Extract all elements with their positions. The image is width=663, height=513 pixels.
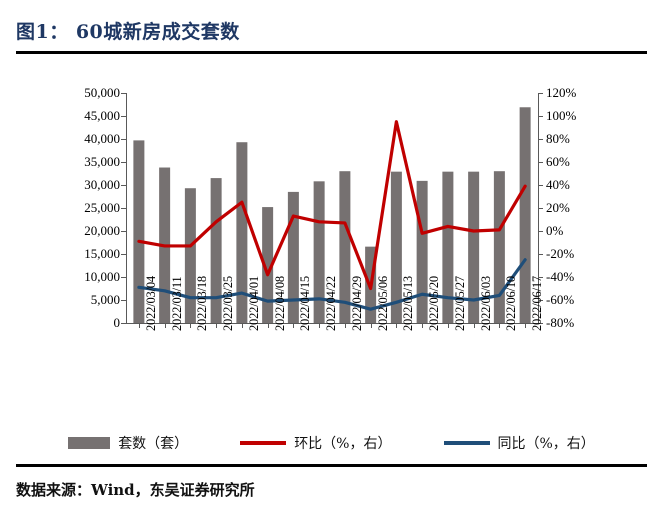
legend-swatch-line-yoy-icon [444,441,490,445]
y-tick-left [121,231,126,232]
y-axis-right-tick-label: 40% [546,177,626,193]
x-axis-tick-label: 2022/05/13 [401,276,416,331]
y-axis-right-tick-label: -20% [546,246,626,262]
bar-2022/05/20 [417,181,428,323]
x-axis-tick-label: 2022/04/15 [298,276,313,331]
x-axis-tick-label: 2022/05/20 [427,276,442,331]
x-axis-tick-label: 2022/06/03 [479,276,494,331]
x-tick [190,323,191,328]
y-tick-left [121,300,126,301]
y-axis-right-tick-label: 100% [546,108,626,124]
figure-card: 图1： 60城新房成交套数 05,00010,00015,00020,00025… [0,0,663,513]
x-tick [396,323,397,328]
chart-legend: 套数（套） 环比（%，右） 同比（%，右） [16,430,647,456]
y-axis-left-tick-label: 20,000 [30,223,120,239]
y-axis-left-tick-label: 15,000 [30,246,120,262]
legend-item-yoy: 同比（%，右） [444,433,595,453]
x-tick [139,323,140,328]
x-tick [216,323,217,328]
y-tick-left [121,277,126,278]
legend-swatch-bar-icon [68,437,110,449]
title-divider [16,51,647,54]
x-tick [371,323,372,328]
bar-2022/03/04 [133,140,144,323]
y-tick-right [538,116,543,117]
y-axis-left [126,93,127,323]
y-axis-right-tick-label: 20% [546,200,626,216]
x-tick [165,323,166,328]
x-tick [345,323,346,328]
source-note: 数据来源：Wind，东吴证券研究所 [16,479,255,500]
x-axis-tick-label: 2022/04/08 [273,276,288,331]
y-tick-left [121,185,126,186]
y-axis-left-tick-label: 10,000 [30,269,120,285]
y-axis-right-tick-label: -40% [546,269,626,285]
y-axis-left-tick-label: 30,000 [30,177,120,193]
x-axis-tick-label: 2022/03/04 [144,276,159,331]
page-title: 图1： 60城新房成交套数 [16,17,240,44]
x-axis-tick-label: 2022/03/11 [170,277,185,331]
x-axis-tick-label: 2022/04/01 [247,276,262,331]
y-axis-left-tick-label: 40,000 [30,131,120,147]
x-tick [525,323,526,328]
y-axis-right-tick-label: 0% [546,223,626,239]
y-tick-left [121,93,126,94]
bar-2022/05/27 [442,172,453,323]
x-axis-tick-label: 2022/06/10 [504,276,519,331]
legend-item-bar: 套数（套） [68,433,188,453]
y-tick-left [121,254,126,255]
y-axis-right-tick-label: 80% [546,131,626,147]
y-tick-right [538,139,543,140]
legend-label-mom: 环比（%，右） [294,433,391,453]
x-axis-tick-label: 2022/05/27 [453,276,468,331]
figure-title-bar: 图1： 60城新房成交套数 [16,14,647,46]
y-tick-left [121,139,126,140]
x-tick [268,323,269,328]
x-axis-tick-label: 2022/04/22 [324,276,339,331]
figure-footer: 数据来源：Wind，东吴证券研究所 [16,474,647,504]
y-axis-right-tick-label: 60% [546,154,626,170]
chart-container: 05,00010,00015,00020,00025,00030,00035,0… [0,60,663,460]
y-axis-left-tick-label: 45,000 [30,108,120,124]
line-series-mom [139,122,525,289]
bar-2022/03/25 [211,178,222,323]
x-axis-tick-label: 2022/04/29 [350,276,365,331]
x-axis-tick-label: 2022/03/25 [221,276,236,331]
y-axis-right-tick-label: -80% [546,315,626,331]
legend-item-mom: 环比（%，右） [240,433,391,453]
y-tick-left [121,208,126,209]
y-tick-right [538,208,543,209]
y-tick-left [121,116,126,117]
x-tick [474,323,475,328]
x-tick [242,323,243,328]
bar-2022/06/17 [520,107,531,323]
y-tick-right [538,231,543,232]
x-axis-tick-label: 2022/05/06 [376,276,391,331]
x-tick [422,323,423,328]
y-tick-right [538,93,543,94]
y-axis-left-tick-label: 0 [30,315,120,331]
y-axis-right-tick-label: -60% [546,292,626,308]
x-tick [319,323,320,328]
x-tick [499,323,500,328]
y-tick-right [538,185,543,186]
y-tick-right [538,254,543,255]
x-axis-tick-label: 2022/03/18 [195,276,210,331]
bar-2022/04/22 [314,181,325,323]
y-axis-left-tick-label: 35,000 [30,154,120,170]
y-axis-left-tick-label: 25,000 [30,200,120,216]
x-tick [448,323,449,328]
y-tick-left [121,323,126,324]
legend-swatch-line-mom-icon [240,441,286,445]
x-axis-tick-label: 2022/06/17 [530,276,545,331]
y-tick-right [538,162,543,163]
y-tick-left [121,162,126,163]
footer-divider [16,464,647,467]
y-axis-right-tick-label: 120% [546,85,626,101]
y-axis-left-tick-label: 5,000 [30,292,120,308]
legend-label-yoy: 同比（%，右） [498,433,595,453]
legend-label-bar: 套数（套） [118,433,188,453]
y-axis-left-tick-label: 50,000 [30,85,120,101]
x-tick [293,323,294,328]
